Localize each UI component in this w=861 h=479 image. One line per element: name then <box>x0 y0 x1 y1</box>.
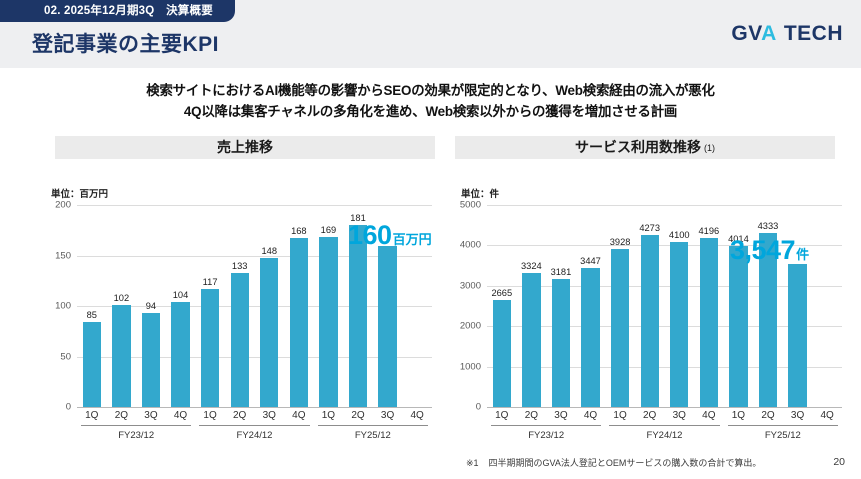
bar-value-label: 3447 <box>580 256 601 266</box>
bar-slot: 4196 <box>694 206 724 407</box>
bar-value-label: 148 <box>261 246 277 256</box>
bar-slot: 148 <box>254 206 284 407</box>
bar <box>378 246 396 407</box>
x-axis-quarter-label: 4Q <box>284 410 314 421</box>
x-axis-quarter-label: 3Q <box>254 410 284 421</box>
callout-revenue-value: 160 <box>348 220 392 250</box>
x-axis-quarter-label: 2Q <box>753 410 783 421</box>
section-header-revenue-label: 売上推移 <box>217 139 273 155</box>
x-axis-quarter-label: 3Q <box>373 410 403 421</box>
bar <box>201 289 219 407</box>
x-axis-fiscal-year-label: FY25/12 <box>318 425 428 441</box>
bar <box>231 273 249 407</box>
bar <box>700 238 718 407</box>
section-header-footnote-marker: (1) <box>704 143 715 153</box>
chart-revenue-unit: 単位：百万円 <box>51 186 108 200</box>
bar <box>611 249 629 407</box>
bar-slot: 133 <box>225 206 255 407</box>
bar-value-label: 3181 <box>551 267 572 277</box>
y-axis-tick-label: 200 <box>55 200 71 211</box>
x-axis-quarter-label: 1Q <box>314 410 344 421</box>
bar-value-label: 2665 <box>491 288 512 298</box>
bar <box>493 300 511 407</box>
bar-value-label: 4273 <box>639 223 660 233</box>
x-axis-fiscal-year-label: FY24/12 <box>199 425 309 441</box>
y-axis-tick-label: 0 <box>66 402 71 413</box>
x-axis-fiscal-year-label: FY24/12 <box>609 425 719 441</box>
bar-value-label: 4100 <box>669 230 690 240</box>
chart-revenue-fy-row: FY23/12FY24/12FY25/12 <box>77 425 432 441</box>
section-tab: 02. 2025年12月期3Q 決算概要 <box>0 0 235 22</box>
bar-value-label: 4196 <box>698 226 719 236</box>
x-axis-quarter-label: 2Q <box>107 410 137 421</box>
slide-root: 02. 2025年12月期3Q 決算概要 登記事業の主要KPI GVATECH … <box>0 0 861 479</box>
x-axis-quarter-label: 2Q <box>517 410 547 421</box>
bar-slot: 3447 <box>576 206 606 407</box>
bar-value-label: 85 <box>87 310 97 320</box>
bar-value-label: 4333 <box>758 221 779 231</box>
callout-service-usage-suffix: 件 <box>796 247 809 262</box>
callout-revenue-suffix: 百万円 <box>393 232 432 247</box>
x-axis-quarter-label: 4Q <box>576 410 606 421</box>
x-axis-fiscal-year-label: FY23/12 <box>81 425 191 441</box>
page-title: 登記事業の主要KPI <box>32 28 219 58</box>
bar-value-label: 94 <box>146 301 156 311</box>
x-axis-quarter-label: 2Q <box>225 410 255 421</box>
x-axis-quarter-label: 2Q <box>343 410 373 421</box>
footnote-text: 四半期期間のGVA法人登記とOEMサービスの購入数の合計で算出。 <box>489 458 762 468</box>
bar <box>581 268 599 407</box>
bar-slot: 4273 <box>635 206 665 407</box>
bar-slot: 104 <box>166 206 196 407</box>
bar-slot: 169 <box>314 206 344 407</box>
y-axis-tick-label: 0 <box>476 402 481 413</box>
callout-revenue-latest: 160百万円 <box>348 222 432 249</box>
chart-revenue-quarter-row: 1Q2Q3Q4Q1Q2Q3Q4Q1Q2Q3Q4Q <box>77 410 432 421</box>
y-axis-tick-label: 100 <box>55 301 71 312</box>
x-axis-quarter-label: 3Q <box>546 410 576 421</box>
y-axis-tick-label: 4000 <box>460 240 481 251</box>
logo-part-gv: GV <box>731 22 761 45</box>
bar <box>142 313 160 407</box>
y-axis-tick-label: 5000 <box>460 200 481 211</box>
bar <box>349 225 367 407</box>
callout-service-usage-latest: 3,547件 <box>730 237 809 264</box>
bar-slot: 2665 <box>487 206 517 407</box>
footnote-marker: ※1 <box>466 458 479 468</box>
x-axis-quarter-label: 3Q <box>783 410 813 421</box>
bar-slot: 117 <box>195 206 225 407</box>
bar-value-label: 168 <box>291 226 307 236</box>
chart-service-usage: 単位：件 500040003000200010000 2665332431813… <box>455 186 850 456</box>
chart-service-usage-quarter-row: 1Q2Q3Q4Q1Q2Q3Q4Q1Q2Q3Q4Q <box>487 410 842 421</box>
bar-slot: 94 <box>136 206 166 407</box>
bar-value-label: 102 <box>114 293 130 303</box>
chart-service-usage-fy-row: FY23/12FY24/12FY25/12 <box>487 425 842 441</box>
bar-slot: 102 <box>107 206 137 407</box>
x-axis-quarter-label: 3Q <box>664 410 694 421</box>
bar-value-label: 3324 <box>521 261 542 271</box>
x-axis-quarter-label: 1Q <box>605 410 635 421</box>
x-axis-quarter-label: 1Q <box>724 410 754 421</box>
chart-service-usage-unit: 単位：件 <box>461 186 499 200</box>
bar <box>83 322 101 407</box>
bar-slot: 3928 <box>605 206 635 407</box>
x-axis-quarter-label: 3Q <box>136 410 166 421</box>
lead-line-1: 検索サイトにおけるAI機能等の影響からSEOの効果が限定的となり、Web検索経由… <box>0 80 861 101</box>
x-axis-fiscal-year-label: FY25/12 <box>728 425 838 441</box>
bar <box>729 246 747 407</box>
x-axis-fiscal-year-label: FY23/12 <box>491 425 601 441</box>
page-number: 20 <box>833 456 845 468</box>
section-header-revenue: 売上推移 <box>55 136 435 159</box>
x-axis-quarter-label: 4Q <box>694 410 724 421</box>
bar-slot: 85 <box>77 206 107 407</box>
bar <box>552 279 570 407</box>
bar <box>788 264 806 407</box>
chart-revenue-xaxis: 1Q2Q3Q4Q1Q2Q3Q4Q1Q2Q3Q4Q FY23/12FY24/12F… <box>77 410 432 454</box>
y-axis-tick-label: 3000 <box>460 280 481 291</box>
x-axis-quarter-label: 1Q <box>77 410 107 421</box>
section-header-service-usage: サービス利用数推移(1) <box>455 136 835 159</box>
x-axis-quarter-label: 1Q <box>487 410 517 421</box>
bar <box>290 238 308 407</box>
lead-text: 検索サイトにおけるAI機能等の影響からSEOの効果が限定的となり、Web検索経由… <box>0 80 861 122</box>
y-axis-tick-label: 50 <box>60 351 71 362</box>
bar <box>112 305 130 408</box>
chart-service-usage-xaxis: 1Q2Q3Q4Q1Q2Q3Q4Q1Q2Q3Q4Q FY23/12FY24/12F… <box>487 410 842 454</box>
bar-value-label: 169 <box>321 225 337 235</box>
y-axis-tick-label: 2000 <box>460 321 481 332</box>
bar <box>171 302 189 407</box>
y-axis-tick-label: 150 <box>55 250 71 261</box>
logo-part-tech: TECH <box>784 22 843 45</box>
footnote: ※1四半期期間のGVA法人登記とOEMサービスの購入数の合計で算出。 <box>466 456 761 469</box>
gva-tech-logo: GVATECH <box>731 22 843 46</box>
chart-revenue-baseline <box>77 407 432 408</box>
y-axis-tick-label: 1000 <box>460 361 481 372</box>
section-header-service-usage-label: サービス利用数推移 <box>575 139 701 155</box>
bar <box>260 258 278 407</box>
logo-part-a: A <box>761 22 777 45</box>
lead-line-2: 4Q以降は集客チャネルの多角化を進め、Web検索以外からの獲得を増加させる計画 <box>0 101 861 122</box>
x-axis-quarter-label: 4Q <box>402 410 432 421</box>
bar <box>522 273 540 407</box>
x-axis-quarter-label: 1Q <box>195 410 225 421</box>
bar-value-label: 3928 <box>610 237 631 247</box>
bar <box>670 242 688 407</box>
bar-value-label: 104 <box>173 290 189 300</box>
callout-service-usage-value: 3,547 <box>730 235 795 265</box>
bar-slot: 4100 <box>664 206 694 407</box>
bar-value-label: 117 <box>203 277 218 287</box>
x-axis-quarter-label: 2Q <box>635 410 665 421</box>
bar-slot: 3181 <box>546 206 576 407</box>
bar-slot <box>812 206 842 407</box>
bar-value-label: 133 <box>232 261 248 271</box>
bar-slot: 3324 <box>517 206 547 407</box>
x-axis-quarter-label: 4Q <box>812 410 842 421</box>
chart-service-usage-baseline <box>487 407 842 408</box>
bar <box>641 235 659 407</box>
bar <box>319 237 337 407</box>
bar-slot: 168 <box>284 206 314 407</box>
x-axis-quarter-label: 4Q <box>166 410 196 421</box>
